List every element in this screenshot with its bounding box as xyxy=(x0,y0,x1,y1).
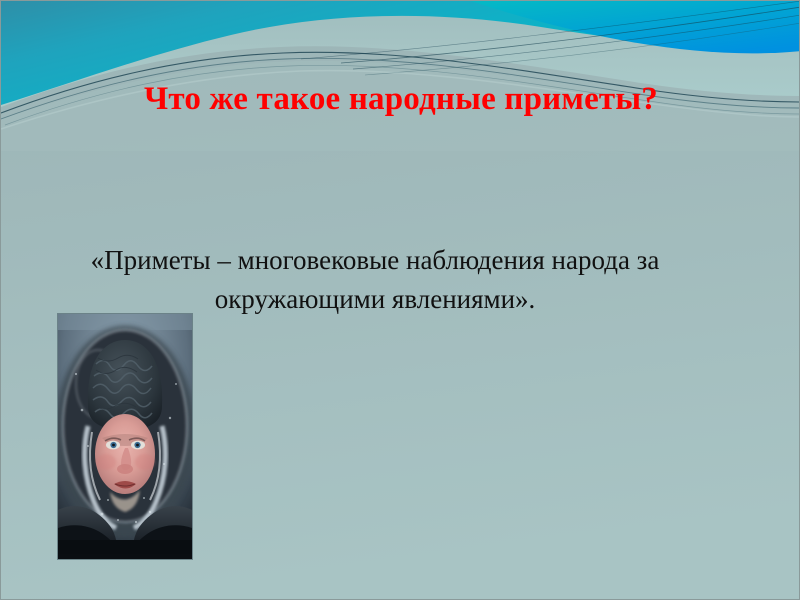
frost-face-illustration xyxy=(58,314,192,559)
slide-body-text: «Приметы – многовековые наблюдения народ… xyxy=(13,241,737,319)
frost-covered-face-photo xyxy=(58,314,192,559)
slide-title: Что же такое народные приметы? xyxy=(1,79,800,119)
body-line-1: «Приметы – многовековые наблюдения народ… xyxy=(13,241,737,280)
presentation-slide: Что же такое народные приметы? «Приметы … xyxy=(0,0,800,600)
